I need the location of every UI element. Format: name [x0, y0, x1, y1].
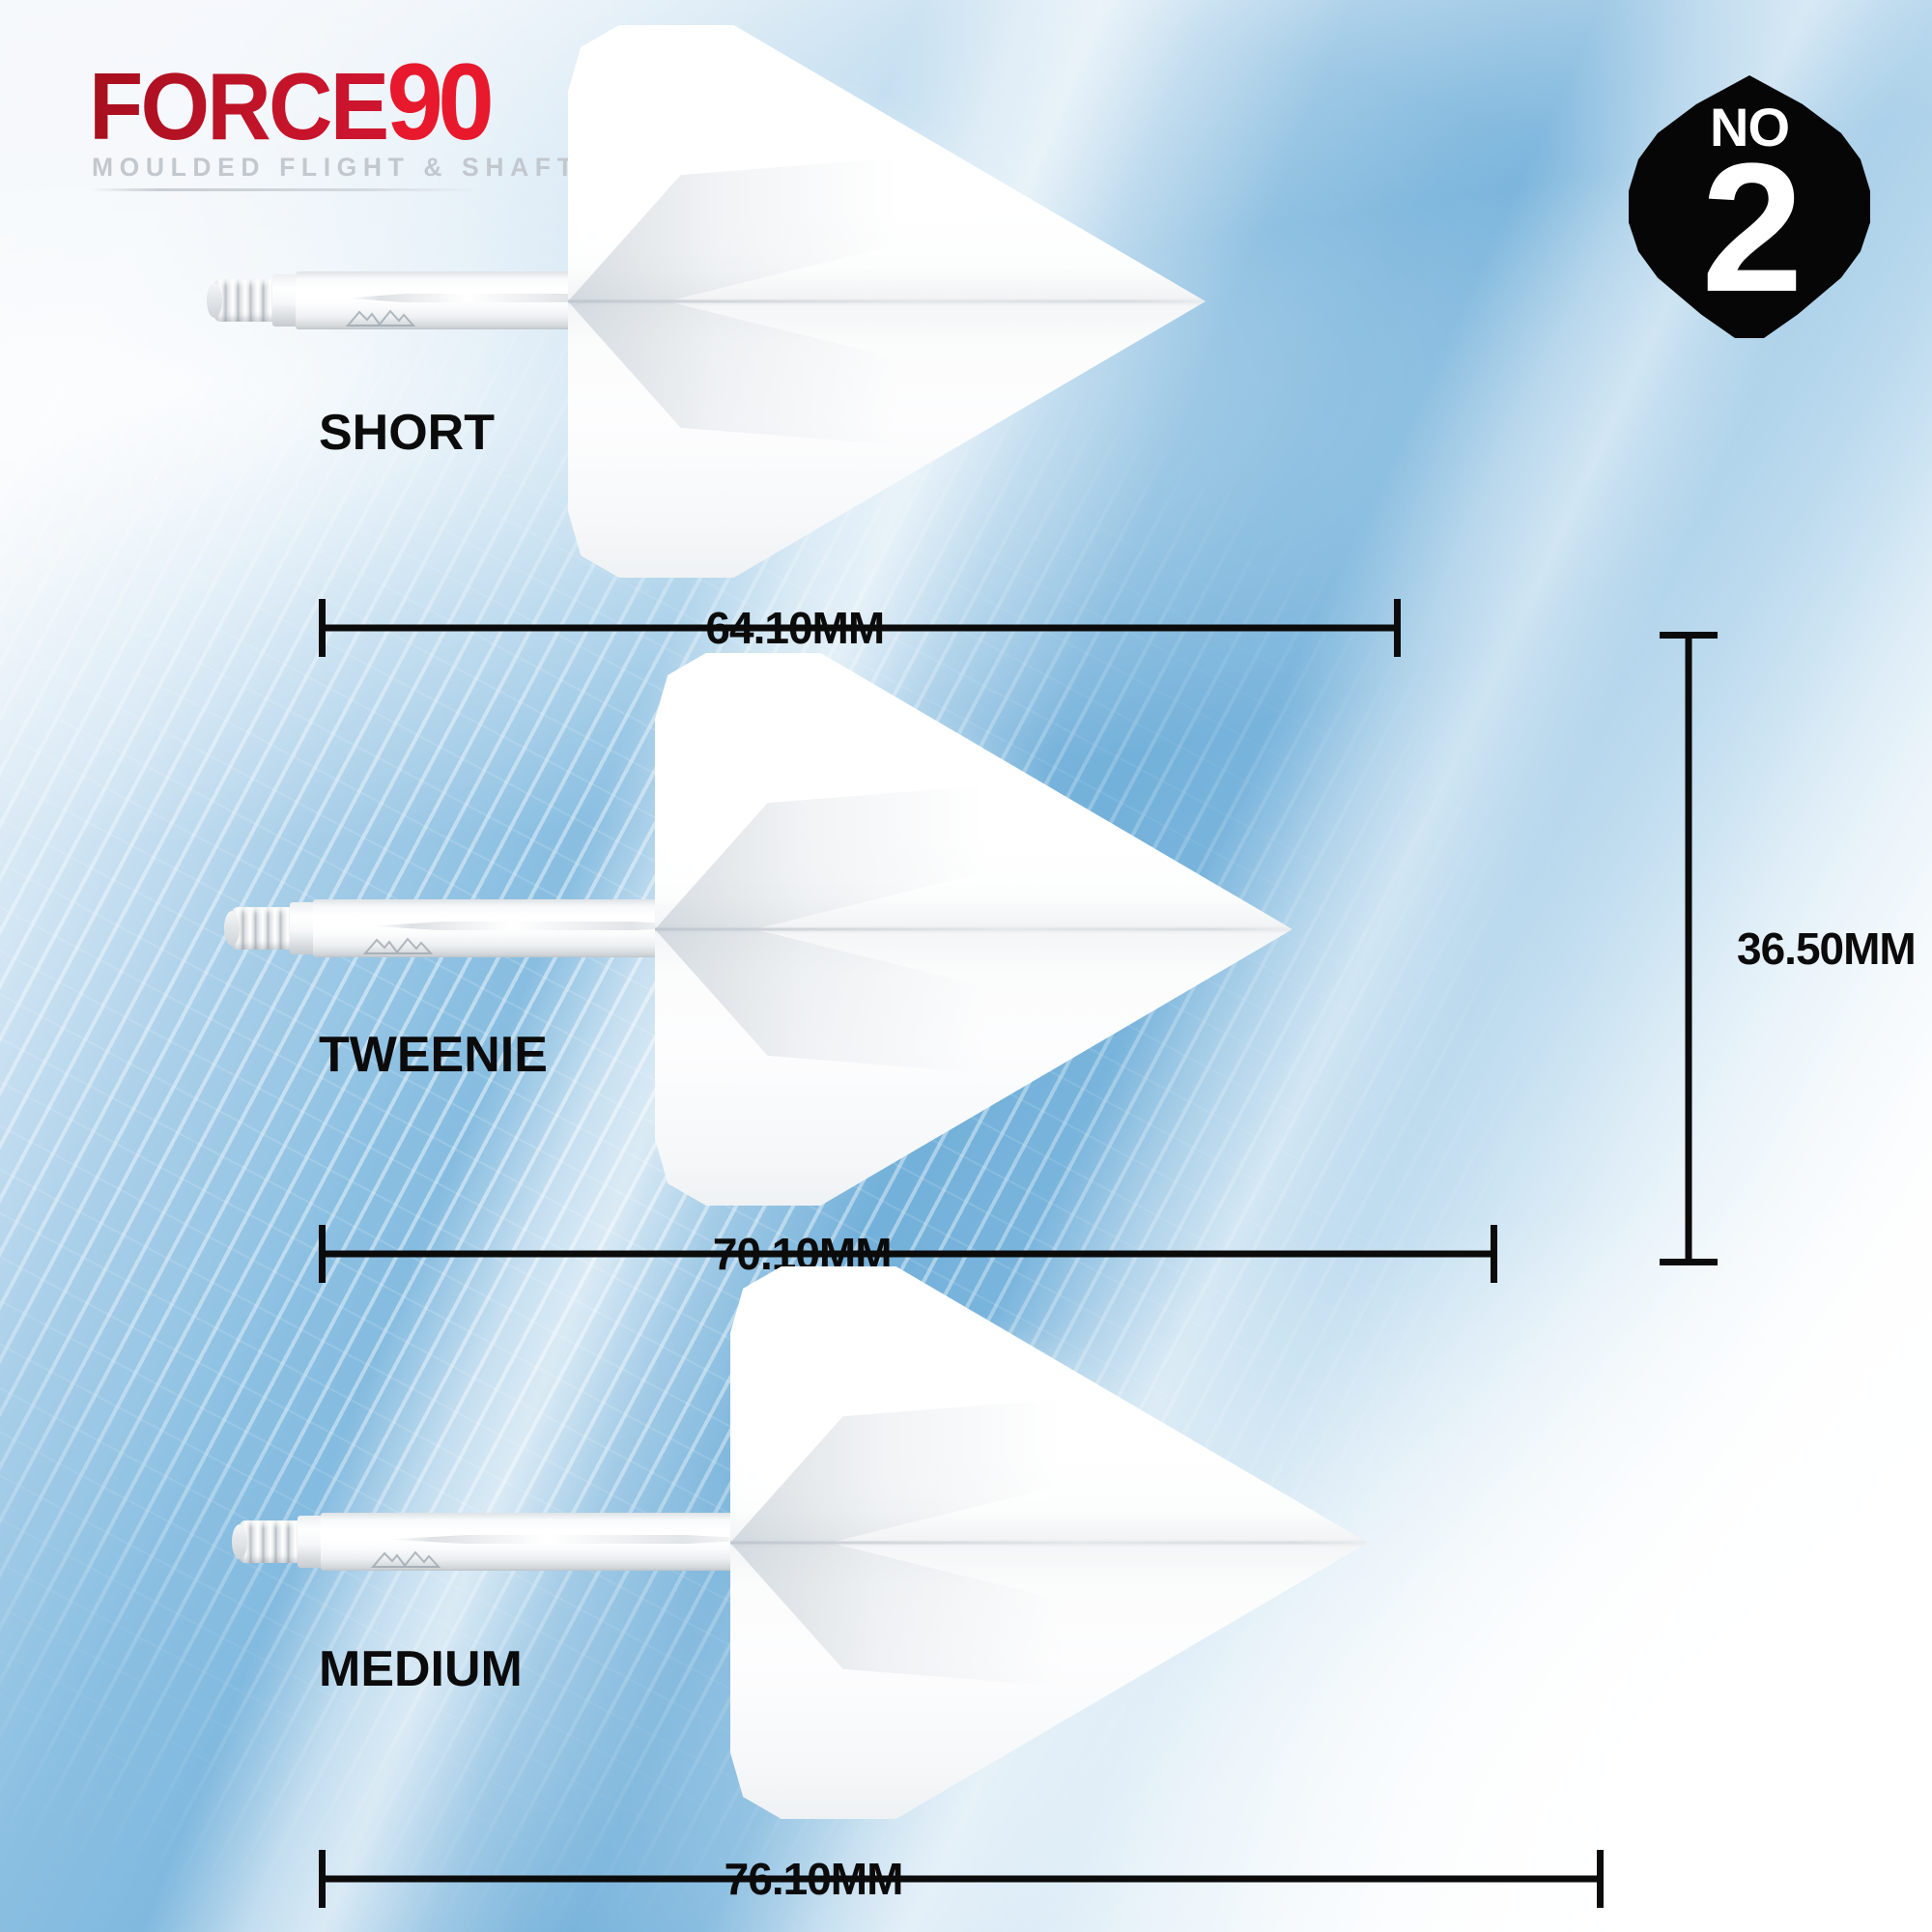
flight-medium [730, 1266, 1368, 1819]
brand-name-accent: 90 [386, 42, 489, 162]
flight-centre-fold [730, 1542, 1368, 1545]
dimension-value-flight-height: 36.50MM [1737, 923, 1932, 975]
dimension-tick-right [1394, 599, 1401, 657]
size-label-short: SHORT [319, 404, 495, 462]
brand-wordmark: FORCE90 [89, 50, 597, 155]
dimension-tick-left [319, 1225, 326, 1283]
dimension-tick-left [319, 1850, 326, 1908]
dimension-tick-left [319, 599, 326, 657]
brand-logo: FORCE90 MOULDED FLIGHT & SHAFT [89, 50, 630, 191]
dimension-tick-right [1597, 1850, 1604, 1908]
shaft-thread [240, 1520, 303, 1563]
dimension-tick-bottom [1660, 1259, 1718, 1265]
mountain-chevron-icon [346, 307, 415, 327]
dimension-length-short: 64.10MM [319, 599, 1401, 657]
flight-tweenie [655, 653, 1293, 1206]
dimension-line [319, 1251, 1497, 1258]
product-spec-poster: FORCE90 MOULDED FLIGHT & SHAFT NO 2 [0, 0, 1932, 1932]
dimension-flight-height: 36.50MM [1660, 632, 1718, 1265]
shaft-thread [232, 907, 296, 950]
flight-shape-badge: NO 2 [1629, 75, 1870, 338]
dimension-tick-right [1491, 1225, 1497, 1283]
flight-short [568, 25, 1206, 578]
shaft-collar [272, 274, 298, 327]
mountain-chevron-icon [363, 935, 433, 954]
size-label-medium: MEDIUM [319, 1640, 523, 1698]
flight-centre-fold [568, 300, 1206, 303]
brand-name-primary: FORCE [89, 53, 386, 159]
mountain-chevron-icon [371, 1548, 440, 1568]
shaft-collar [298, 1516, 323, 1568]
dimension-line [319, 1876, 1604, 1883]
dimension-value-short: 64.10MM [692, 602, 897, 654]
dimension-tick-top [1660, 632, 1718, 639]
brand-divider [89, 188, 480, 191]
dimension-line [1686, 632, 1692, 1265]
dimension-value-medium: 76.10MM [711, 1853, 917, 1905]
badge-number: 2 [1701, 156, 1798, 299]
flight-centre-fold [655, 928, 1293, 931]
size-label-tweenie: TWEENIE [319, 1026, 548, 1084]
shaft-collar [290, 902, 315, 954]
shaft-thread [214, 279, 278, 322]
dimension-length-medium: 76.10MM [319, 1850, 1604, 1908]
